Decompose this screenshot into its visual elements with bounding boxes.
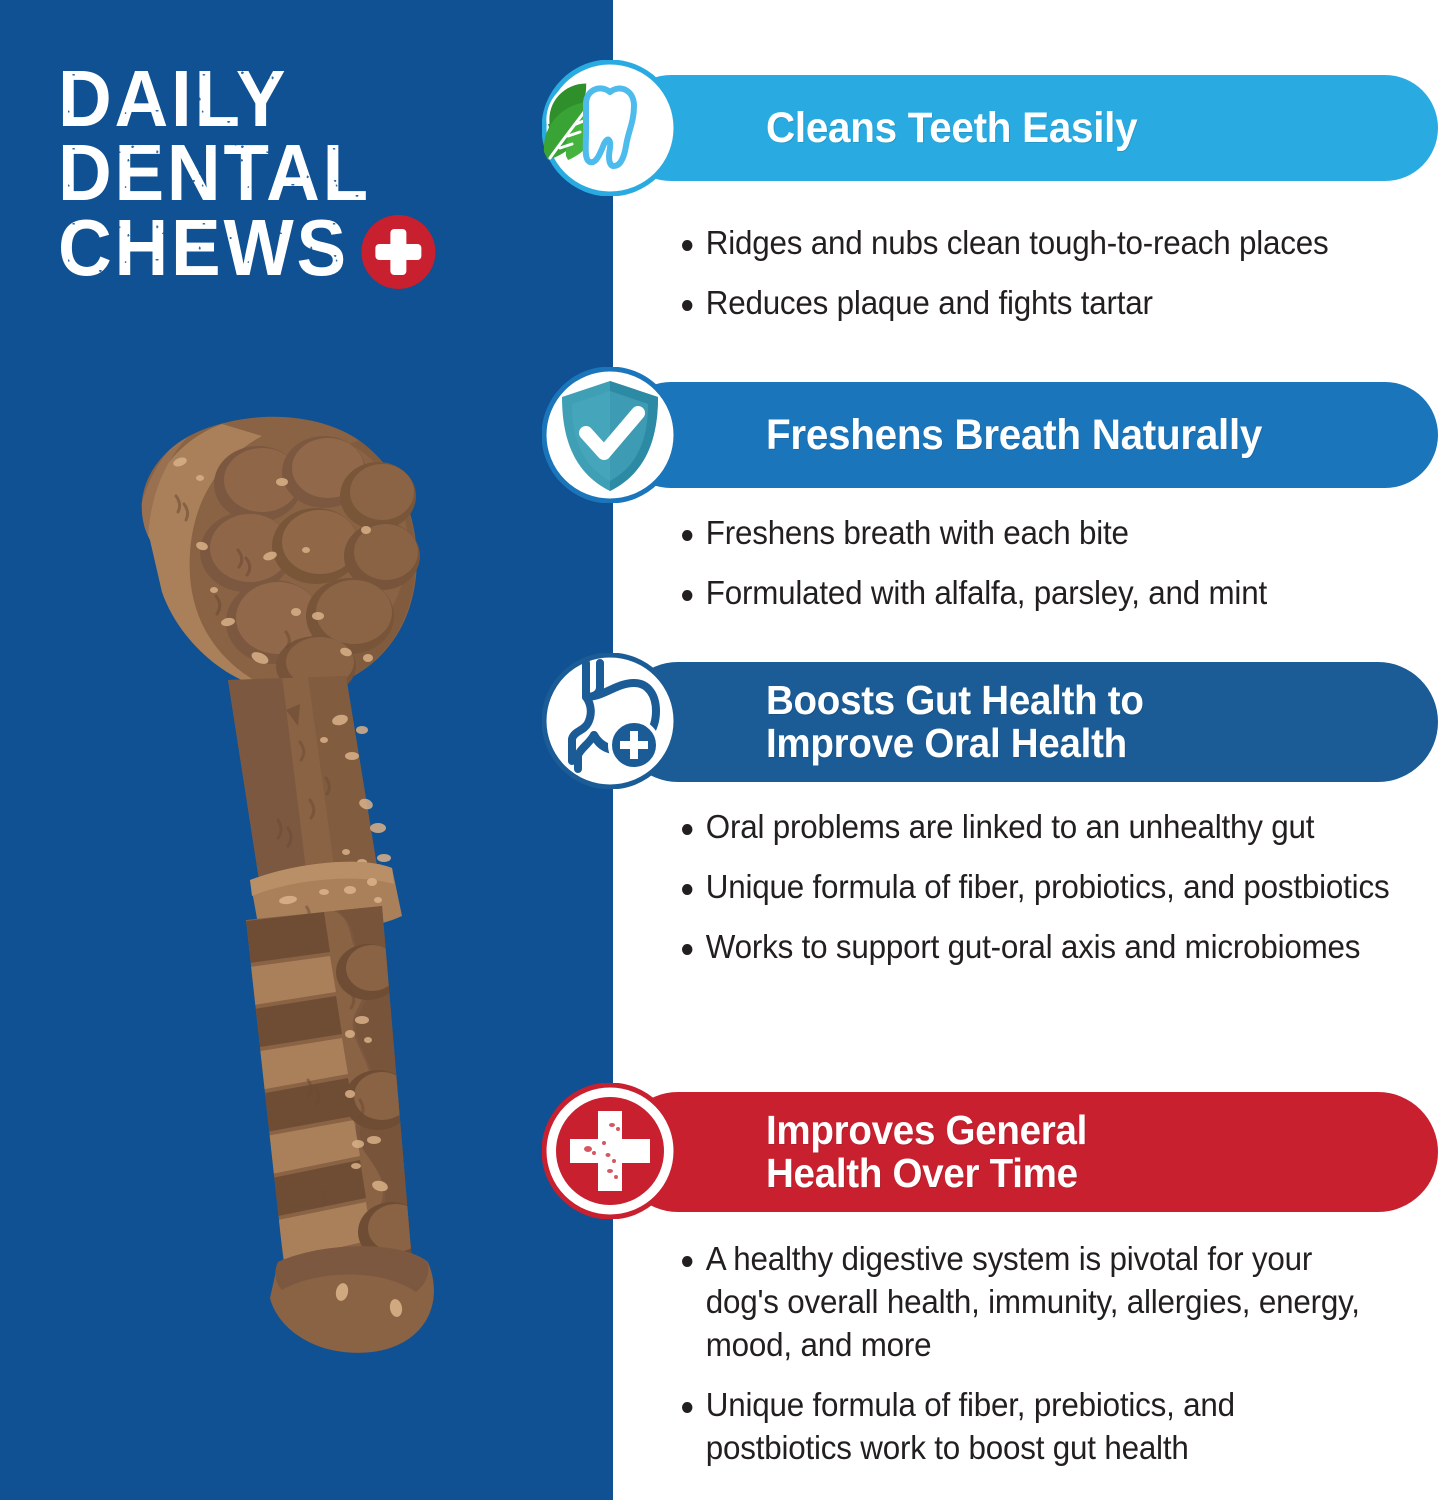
bullet-dot bbox=[682, 824, 692, 835]
bullet-dot bbox=[682, 530, 692, 541]
banner-title-freshens-breath: Freshens Breath Naturally bbox=[766, 413, 1262, 457]
bullet-text: Oral problems are linked to an unhealthy… bbox=[706, 806, 1404, 849]
banner-title-line-2: Health Over Time bbox=[766, 1152, 1087, 1195]
bullets-general-health: A healthy digestive system is pivotal fo… bbox=[682, 1238, 1402, 1469]
banner-freshens-breath: Freshens Breath Naturally bbox=[618, 382, 1438, 488]
bullet-item: Unique formula of fiber, probiotics, and… bbox=[682, 866, 1404, 909]
bullet-item: Works to support gut-oral axis and micro… bbox=[682, 926, 1404, 969]
bullet-item: A healthy digestive system is pivotal fo… bbox=[682, 1238, 1366, 1367]
benefits-sections: Cleans Teeth Easily bbox=[0, 0, 1444, 1500]
banner-general-health: Improves General Health Over Time bbox=[618, 1092, 1438, 1212]
bullet-text: Freshens breath with each bite bbox=[706, 512, 1404, 555]
bullet-text: A healthy digestive system is pivotal fo… bbox=[706, 1238, 1366, 1367]
bullet-item: Unique formula of fiber, prebiotics, and… bbox=[682, 1384, 1366, 1470]
banner-cleans-teeth: Cleans Teeth Easily bbox=[618, 75, 1438, 181]
medical-cross-circle-icon bbox=[542, 1083, 678, 1219]
bullets-gut-health: Oral problems are linked to an unhealthy… bbox=[682, 806, 1442, 969]
bullet-dot bbox=[682, 884, 692, 895]
banner-title-gut-health: Boosts Gut Health to Improve Oral Health bbox=[766, 679, 1144, 764]
bullets-cleans-teeth: Ridges and nubs clean tough-to-reach pla… bbox=[682, 222, 1442, 325]
bullet-dot bbox=[682, 944, 692, 955]
bullet-item: Oral problems are linked to an unhealthy… bbox=[682, 806, 1404, 849]
bullet-text: Ridges and nubs clean tough-to-reach pla… bbox=[706, 222, 1404, 265]
infographic-root: DAILY DENTAL CHEWS bbox=[0, 0, 1444, 1500]
tooth-mint-icon bbox=[542, 60, 678, 196]
bullet-dot bbox=[682, 1256, 692, 1267]
bullet-item: Formulated with alfalfa, parsley, and mi… bbox=[682, 572, 1404, 615]
bullet-text: Works to support gut-oral axis and micro… bbox=[706, 926, 1404, 969]
bullet-dot bbox=[682, 300, 692, 311]
banner-gut-health: Boosts Gut Health to Improve Oral Health bbox=[618, 662, 1438, 782]
stomach-plus-icon bbox=[542, 653, 678, 789]
bullet-text: Unique formula of fiber, prebiotics, and… bbox=[706, 1384, 1366, 1470]
shield-check-icon bbox=[542, 367, 678, 503]
banner-title-cleans-teeth: Cleans Teeth Easily bbox=[766, 106, 1137, 150]
bullet-text: Unique formula of fiber, probiotics, and… bbox=[706, 866, 1404, 909]
bullet-item: Freshens breath with each bite bbox=[682, 512, 1404, 555]
bullet-dot bbox=[682, 240, 692, 251]
bullet-text: Reduces plaque and fights tartar bbox=[706, 282, 1404, 325]
bullet-dot bbox=[682, 1402, 692, 1413]
bullet-item: Ridges and nubs clean tough-to-reach pla… bbox=[682, 222, 1404, 265]
bullet-item: Reduces plaque and fights tartar bbox=[682, 282, 1404, 325]
banner-title-general-health: Improves General Health Over Time bbox=[766, 1109, 1087, 1194]
banner-title-line-1: Boosts Gut Health to bbox=[766, 679, 1144, 722]
plus-badge-icon bbox=[610, 721, 658, 769]
banner-title-line-1: Improves General bbox=[766, 1109, 1087, 1152]
bullet-text: Formulated with alfalfa, parsley, and mi… bbox=[706, 572, 1404, 615]
banner-title-line-2: Improve Oral Health bbox=[766, 722, 1144, 765]
bullets-freshens-breath: Freshens breath with each bite Formulate… bbox=[682, 512, 1442, 615]
bullet-dot bbox=[682, 590, 692, 601]
